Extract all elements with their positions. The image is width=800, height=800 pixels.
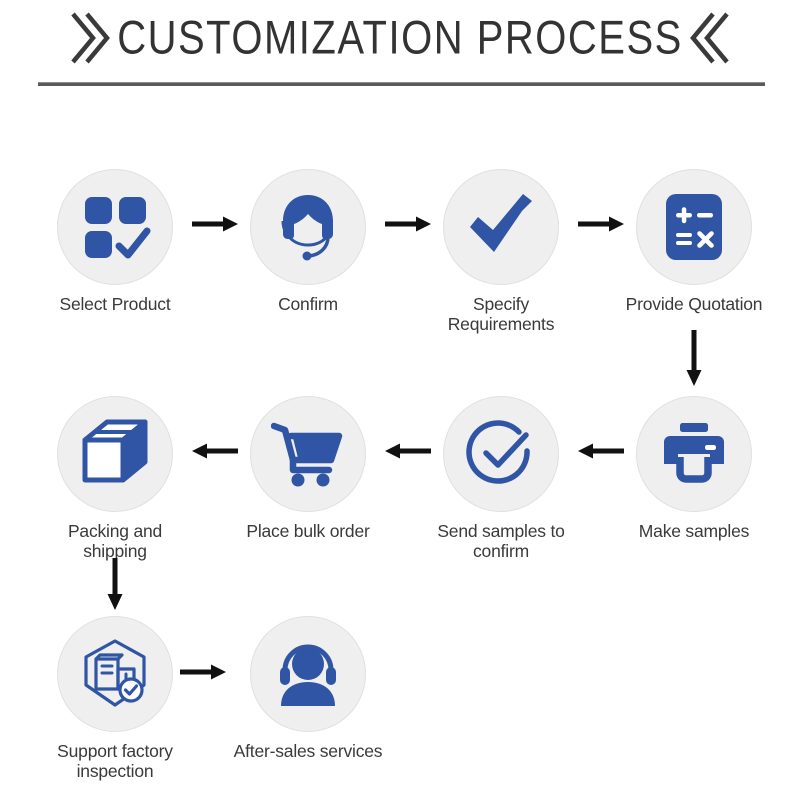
step-node-support-factory-inspection[interactable]: Support factory inspection bbox=[40, 616, 190, 781]
step-label: Place bulk order bbox=[233, 521, 383, 541]
step-node-packing-and-shipping[interactable]: Packing and shipping bbox=[40, 396, 190, 561]
step-icon-circle bbox=[250, 396, 366, 512]
arrow-quotation-to-samples bbox=[683, 330, 705, 386]
step-icon-circle bbox=[636, 169, 752, 285]
double-chevron-left-icon bbox=[689, 10, 733, 66]
step-icon-circle bbox=[57, 169, 173, 285]
step-icon-circle bbox=[443, 169, 559, 285]
page-title: CUSTOMIZATION PROCESS bbox=[117, 11, 683, 64]
step-label: Confirm bbox=[233, 294, 383, 314]
step-node-select-product[interactable]: Select Product bbox=[40, 169, 190, 314]
step-label: Support factory inspection bbox=[40, 741, 190, 781]
step-node-make-samples[interactable]: Make samples bbox=[619, 396, 769, 541]
checkmark-bold-icon bbox=[464, 190, 538, 264]
step-label: Provide Quotation bbox=[619, 294, 769, 314]
shopping-cart-icon bbox=[271, 420, 345, 488]
step-icon-circle bbox=[250, 169, 366, 285]
step-node-specify-requirements[interactable]: Specify Requirements bbox=[426, 169, 576, 334]
arrow-packing-to-inspection bbox=[104, 558, 126, 610]
package-box-icon bbox=[79, 418, 151, 490]
step-label: Specify Requirements bbox=[426, 294, 576, 334]
step-icon-circle bbox=[250, 616, 366, 732]
step-node-confirm[interactable]: Confirm bbox=[233, 169, 383, 314]
factory-inspection-shield-icon bbox=[78, 637, 152, 711]
page-header: CUSTOMIZATION PROCESS bbox=[0, 8, 800, 68]
arrow-samples-to-send bbox=[578, 440, 624, 462]
arrow-inspection-to-aftersales bbox=[180, 661, 226, 683]
arrow-specify-to-quotation bbox=[578, 213, 624, 235]
step-node-place-bulk-order[interactable]: Place bulk order bbox=[233, 396, 383, 541]
step-label: Select Product bbox=[40, 294, 190, 314]
printer-icon bbox=[658, 421, 730, 487]
arrow-select-to-confirm bbox=[192, 213, 238, 235]
step-node-after-sales-services[interactable]: After-sales services bbox=[233, 616, 383, 761]
header-divider bbox=[38, 82, 765, 86]
arrow-bulk-to-packing bbox=[192, 440, 238, 462]
step-label: After-sales services bbox=[233, 741, 383, 761]
arrow-send-to-bulk bbox=[385, 440, 431, 462]
circle-check-icon bbox=[464, 417, 538, 491]
customization-process-infographic: CUSTOMIZATION PROCESS Select Product bbox=[0, 0, 800, 800]
step-label: Send samples to confirm bbox=[426, 521, 576, 561]
headset-person-icon bbox=[271, 640, 345, 708]
step-node-provide-quotation[interactable]: Provide Quotation bbox=[619, 169, 769, 314]
step-icon-circle bbox=[57, 396, 173, 512]
step-icon-circle bbox=[443, 396, 559, 512]
title-row: CUSTOMIZATION PROCESS bbox=[0, 8, 800, 68]
grid-squares-check-icon bbox=[79, 191, 151, 263]
step-icon-circle bbox=[636, 396, 752, 512]
step-icon-circle bbox=[57, 616, 173, 732]
calculator-icon bbox=[662, 191, 726, 263]
headset-agent-icon bbox=[271, 190, 345, 264]
double-chevron-right-icon bbox=[67, 10, 111, 66]
step-label: Make samples bbox=[619, 521, 769, 541]
arrow-confirm-to-specify bbox=[385, 213, 431, 235]
step-label: Packing and shipping bbox=[40, 521, 190, 561]
step-node-send-samples-to-confirm[interactable]: Send samples to confirm bbox=[426, 396, 576, 561]
